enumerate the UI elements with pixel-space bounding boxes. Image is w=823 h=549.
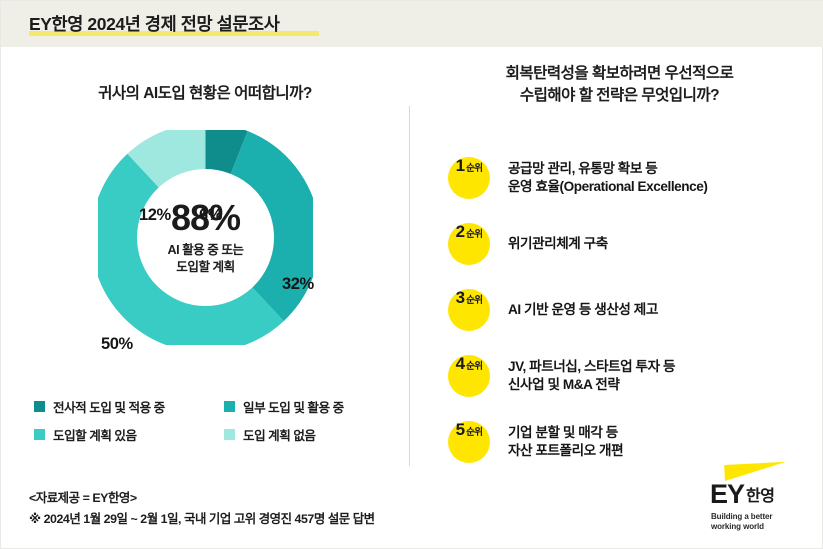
rank-text-1: 공급망 관리, 유통망 확보 등 운영 효율(Operational Excel… xyxy=(508,160,707,196)
donut-value-label-6: 6% xyxy=(199,206,222,225)
rank-badge-5: 5 순위 xyxy=(448,421,490,463)
rank-text-line2: 운영 효율(Operational Excellence) xyxy=(508,179,707,194)
rank-suffix: 순위 xyxy=(466,160,482,174)
donut-value-label-50: 50% xyxy=(101,335,133,354)
rank-suffix: 순위 xyxy=(466,226,482,240)
rank-number: 5 xyxy=(456,421,465,438)
rank-badge-2: 2 순위 xyxy=(448,223,490,265)
page-title-container: EY한영 2024년 경제 전망 설문조사 xyxy=(29,11,279,36)
footer: <자료제공 = EY한영> ※ 2024년 1월 29일 ~ 2월 1일, 국내… xyxy=(29,488,669,530)
rank-number: 1 xyxy=(456,157,465,174)
rank-item-1: 1 순위 공급망 관리, 유통망 확보 등 운영 효율(Operational … xyxy=(448,145,823,211)
legend-item-partial-adoption: 일부 도입 및 활용 중 xyxy=(224,397,384,416)
rank-suffix: 순위 xyxy=(466,292,482,306)
legend-item-enterprise-wide: 전사적 도입 및 적용 중 xyxy=(34,397,224,416)
footer-note: ※ 2024년 1월 29일 ~ 2월 1일, 국내 기업 고위 경영진 457… xyxy=(29,509,669,530)
ey-tagline: Building a better working world xyxy=(711,512,772,533)
donut-chart: 88% AI 활용 중 또는 도입할 계획 xyxy=(98,130,313,345)
rank-text-line2: 자산 포트폴리오 개편 xyxy=(508,443,623,458)
rank-text-5: 기업 분할 및 매각 등 자산 포트폴리오 개편 xyxy=(508,424,623,460)
rank-item-2: 2 순위 위기관리체계 구축 xyxy=(448,211,823,277)
rank-text-line1: 위기관리체계 구축 xyxy=(508,236,608,251)
legend-label: 도입할 계획 있음 xyxy=(53,425,137,444)
rank-text-3: AI 기반 운영 등 생산성 제고 xyxy=(508,301,658,319)
left-question-title: 귀사의 AI도입 현황은 어떠합니까? xyxy=(1,81,409,103)
rank-badge-3: 3 순위 xyxy=(448,289,490,331)
ey-korean-name: 한영 xyxy=(746,486,774,508)
rank-suffix: 순위 xyxy=(466,424,482,438)
priority-rank-list: 1 순위 공급망 관리, 유통망 확보 등 운영 효율(Operational … xyxy=(448,145,823,475)
rank-badge-1: 1 순위 xyxy=(448,157,490,199)
rank-text-line1: JV, 파트너십, 스타트업 투자 등 xyxy=(508,359,675,374)
ey-tagline-line1: Building a better xyxy=(711,512,772,521)
right-question-title: 회복탄력성을 확보하려면 우선적으로 수립해야 할 전략은 무엇입니까? xyxy=(422,63,817,108)
rank-badge-4: 4 순위 xyxy=(448,355,490,397)
rank-item-4: 4 순위 JV, 파트너십, 스타트업 투자 등 신사업 및 M&A 전략 xyxy=(448,343,823,409)
legend-swatch-icon xyxy=(34,401,45,412)
rank-text-4: JV, 파트너십, 스타트업 투자 등 신사업 및 M&A 전략 xyxy=(508,358,675,394)
legend-item-plan-to-adopt: 도입할 계획 있음 xyxy=(34,425,224,444)
donut-value-label-32: 32% xyxy=(282,275,314,294)
rank-number: 3 xyxy=(456,289,465,306)
right-question-line1: 회복탄력성을 확보하려면 우선적으로 xyxy=(506,65,734,82)
rank-text-line1: AI 기반 운영 등 생산성 제고 xyxy=(508,302,658,317)
rank-text-line2: 신사업 및 M&A 전략 xyxy=(508,377,619,392)
donut-value-label-12: 12% xyxy=(139,206,171,225)
legend-label: 일부 도입 및 활용 중 xyxy=(243,397,344,416)
ey-letters: EY xyxy=(710,482,744,508)
legend-swatch-icon xyxy=(34,429,45,440)
ey-wordmark: EY 한영 xyxy=(710,482,774,508)
left-panel: 귀사의 AI도입 현황은 어떠합니까? 88% AI 활용 중 xyxy=(1,47,409,457)
rank-item-3: 3 순위 AI 기반 운영 등 생산성 제고 xyxy=(448,277,823,343)
legend-swatch-icon xyxy=(224,401,235,412)
rank-number: 2 xyxy=(456,223,465,240)
chart-legend: 전사적 도입 및 적용 중 일부 도입 및 활용 중 도입할 계획 있음 도입 … xyxy=(34,397,384,444)
legend-label: 전사적 도입 및 적용 중 xyxy=(53,397,165,416)
rank-number: 4 xyxy=(456,355,465,372)
right-panel: 회복탄력성을 확보하려면 우선적으로 수립해야 할 전략은 무엇입니까? 1 순… xyxy=(410,47,823,457)
legend-label: 도입 계획 없음 xyxy=(243,425,316,444)
page-title: EY한영 2024년 경제 전망 설문조사 xyxy=(29,11,279,36)
rank-text-2: 위기관리체계 구축 xyxy=(508,235,608,253)
ey-tagline-line2: working world xyxy=(711,522,764,531)
rank-text-line1: 기업 분할 및 매각 등 xyxy=(508,425,618,440)
right-question-line2: 수립해야 할 전략은 무엇입니까? xyxy=(520,87,719,104)
footer-source: <자료제공 = EY한영> xyxy=(29,488,669,509)
ey-hanyoung-logo: EY 한영 Building a better working world xyxy=(701,479,811,539)
legend-item-no-plan: 도입 계획 없음 xyxy=(224,425,384,444)
infographic-page: EY한영 2024년 경제 전망 설문조사 귀사의 AI도입 현황은 어떠합니까… xyxy=(0,0,823,549)
rank-text-line1: 공급망 관리, 유통망 확보 등 xyxy=(508,161,657,176)
rank-suffix: 순위 xyxy=(466,358,482,372)
legend-swatch-icon xyxy=(224,429,235,440)
donut-chart-svg xyxy=(98,130,313,345)
